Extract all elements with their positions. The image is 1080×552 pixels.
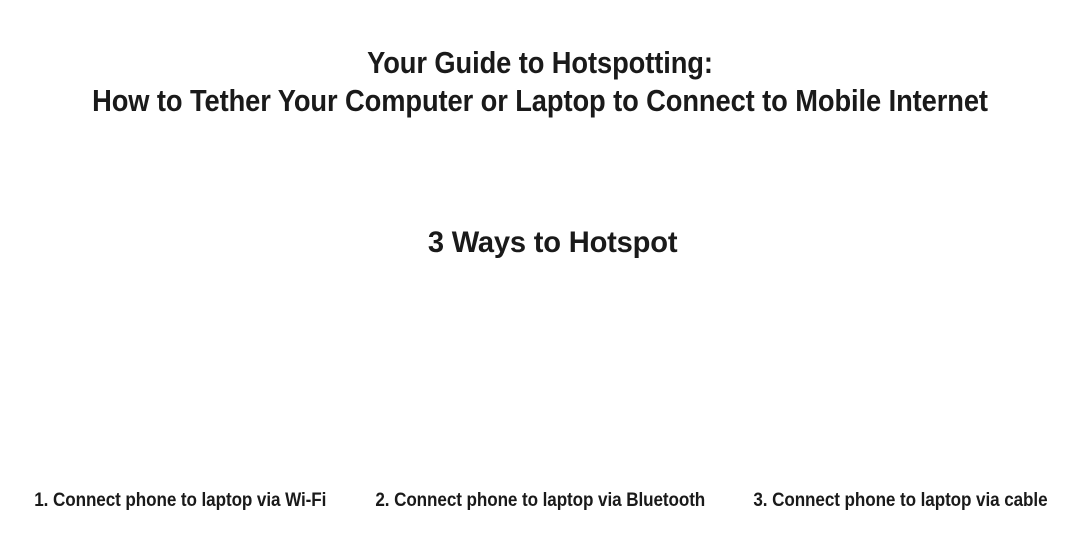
method-caption-1: 1. Connect phone to laptop via Wi-Fi: [34, 489, 326, 513]
title-line-2: How to Tether Your Computer or Laptop to…: [65, 82, 1015, 120]
caption-cell-1: 1. Connect phone to laptop via Wi-Fi: [0, 489, 360, 513]
page-title: Your Guide to Hotspotting: How to Tether…: [0, 44, 1080, 120]
method-caption-2: 2. Connect phone to laptop via Bluetooth: [375, 489, 705, 513]
caption-cell-3: 3. Connect phone to laptop via cable: [720, 489, 1080, 513]
illustration-cell-bluetooth: [360, 272, 720, 478]
illustration-cell-wifi: [0, 272, 360, 478]
illustration-cell-cable: [720, 272, 1080, 478]
illustration-row: [0, 272, 1080, 478]
caption-cell-2: 2. Connect phone to laptop via Bluetooth: [360, 489, 720, 513]
infographic-page: Your Guide to Hotspotting: How to Tether…: [0, 0, 1080, 552]
method-caption-3: 3. Connect phone to laptop via cable: [753, 489, 1047, 513]
title-line-1: Your Guide to Hotspotting:: [65, 44, 1015, 82]
section-heading: 3 Ways to Hotspot: [0, 224, 1080, 262]
caption-row: 1. Connect phone to laptop via Wi-Fi 2. …: [0, 488, 1080, 514]
section-heading-text: 3 Ways to Hotspot: [428, 224, 677, 262]
